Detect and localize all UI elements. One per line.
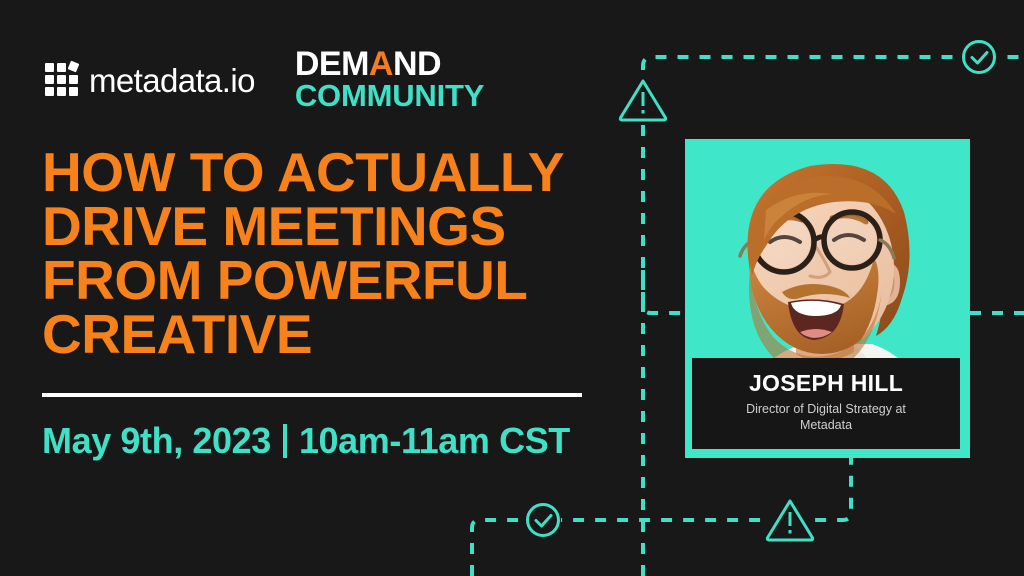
event-date: May 9th, 2023	[42, 420, 271, 462]
webinar-promo-graphic: metadata.io DEMAND COMMUNITY HOW TO ACTU…	[0, 0, 1024, 576]
event-time: 10am-11am CST	[299, 420, 570, 462]
community-wordmark: COMMUNITY	[295, 82, 484, 111]
headline-line-2: DRIVE MEETINGS	[42, 200, 642, 254]
speaker-title: Director of Digital Strategy at Metadata	[700, 401, 952, 433]
warning-triangle-icon	[620, 78, 666, 120]
deco-path-bottom	[472, 458, 851, 576]
headline-line-1: HOW TO ACTUALLY	[42, 146, 642, 200]
headline-line-4: CREATIVE	[42, 308, 642, 362]
speaker-name: JOSEPH HILL	[700, 372, 952, 395]
metadata-grid-icon	[45, 63, 79, 97]
demand-community-logo[interactable]: DEMAND COMMUNITY	[295, 49, 484, 111]
event-datetime: May 9th, 2023 10am-11am CST	[42, 420, 570, 462]
metadata-logo[interactable]: metadata.io	[45, 63, 255, 97]
metadata-wordmark: metadata.io	[89, 64, 255, 97]
event-separator	[283, 424, 287, 458]
headline: HOW TO ACTUALLY DRIVE MEETINGS FROM POWE…	[42, 146, 642, 362]
logo-row: metadata.io DEMAND COMMUNITY	[45, 54, 484, 106]
speaker-title-line-1: Director of Digital Strategy at	[746, 402, 906, 416]
divider-rule	[42, 393, 582, 397]
speaker-card: JOSEPH HILL Director of Digital Strategy…	[682, 136, 970, 458]
check-circle-icon	[525, 502, 561, 538]
warning-triangle-icon	[767, 498, 813, 540]
speaker-title-line-2: Metadata	[800, 418, 852, 432]
demand-wordmark: DEMAND	[295, 49, 484, 80]
check-circle-icon	[961, 39, 997, 75]
headline-line-3: FROM POWERFUL	[42, 254, 642, 308]
speaker-nameplate: JOSEPH HILL Director of Digital Strategy…	[692, 358, 960, 449]
